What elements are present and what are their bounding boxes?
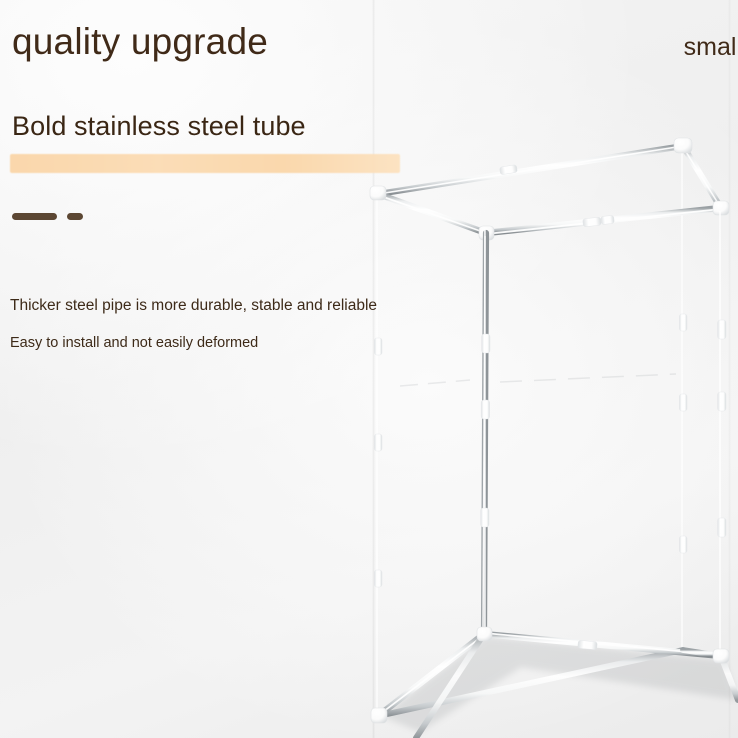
- joint-top-back-left: [370, 186, 386, 200]
- long-dash-icon: [12, 213, 57, 220]
- feature-text-line-2: Easy to install and not easily deformed: [10, 335, 258, 351]
- rail-top-back: [378, 146, 683, 194]
- connector-sleeve-bottom-front: [578, 640, 598, 650]
- interior-rail-hint: [400, 374, 676, 386]
- leg-front-left-lower: [416, 634, 484, 738]
- rail-bottom-right: [683, 650, 721, 656]
- rail-top-left: [378, 194, 486, 233]
- connector-sleeves-post-back-right: [679, 314, 687, 553]
- joint-top-back-right: [674, 138, 692, 153]
- dash-decoration: [12, 213, 83, 220]
- highlight-underline-bar: [10, 154, 400, 173]
- joint-bottom-back-left: [371, 708, 387, 723]
- post-back-right: [682, 146, 683, 650]
- post-front-left: [483, 233, 486, 634]
- leg-front-right-lower: [721, 656, 738, 700]
- subheading: Bold stainless steel tube: [12, 112, 306, 142]
- connector-sleeves-post-front-right: [718, 320, 726, 537]
- joint-top-front-left: [479, 226, 494, 240]
- feature-text-line-1: Thicker steel pipe is more durable, stab…: [10, 297, 377, 315]
- post-front-right: [720, 208, 721, 656]
- backdrop-seam-right: [728, 0, 731, 738]
- rack-floor-shadow: [381, 636, 738, 732]
- joint-bottom-front-left: [477, 627, 492, 641]
- post-back-left: [377, 194, 378, 716]
- joint-top-front-right: [713, 201, 729, 215]
- connector-sleeves-post-back-left: [374, 338, 382, 587]
- connector-sleeve-top-back: [499, 165, 517, 175]
- size-label-small: small: [684, 33, 738, 62]
- short-dash-icon: [67, 213, 83, 220]
- connector-sleeves-top-front: [583, 215, 615, 227]
- joint-bottom-front-right: [713, 649, 729, 663]
- rail-bottom-front: [484, 633, 721, 656]
- rail-bottom-back: [378, 650, 683, 716]
- connector-sleeves-post-front-left: [481, 334, 490, 527]
- rail-top-right: [683, 146, 721, 208]
- product-banner: quality upgrade small Bold stainless ste…: [0, 0, 738, 738]
- backdrop-seam-left: [372, 0, 375, 738]
- page-title: quality upgrade: [12, 22, 268, 62]
- rail-top-front: [486, 208, 721, 234]
- rail-bottom-left: [378, 634, 484, 716]
